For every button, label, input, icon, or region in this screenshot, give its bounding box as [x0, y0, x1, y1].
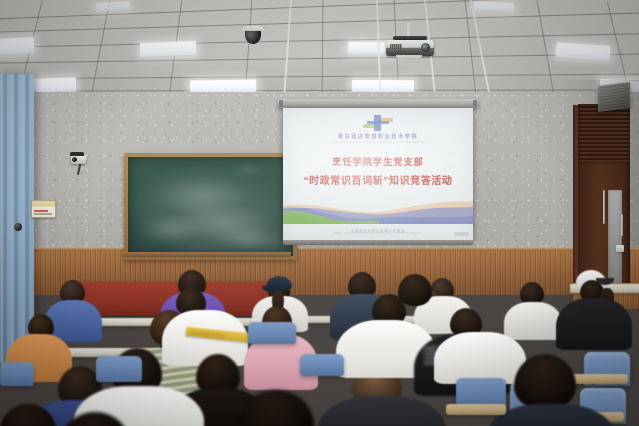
- lecture-hall-seat[interactable]: [96, 356, 142, 382]
- slide-org-name-en: Qingdao Vocational and Technical College…: [330, 141, 425, 144]
- lecture-hall-seat[interactable]: [0, 362, 34, 386]
- student-body: [434, 332, 526, 384]
- left-door-knob: [14, 223, 22, 231]
- student-body: [504, 302, 562, 340]
- chalkboard-surface: [128, 157, 293, 256]
- college-logo-icon: [363, 115, 393, 131]
- student-body: [556, 298, 632, 350]
- door-handle[interactable]: [621, 214, 623, 236]
- classroom-photo: 青岛酒店管理职业技术学院 Qingdao Vocational and Tech…: [0, 0, 639, 426]
- slide-footer-sub: CRADLE OF PROFESSIONAL MANAGERS FOR CHIN…: [283, 233, 473, 235]
- projection-screen: 青岛酒店管理职业技术学院 Qingdao Vocational and Tech…: [283, 108, 473, 240]
- seated-students: 青岛酒店管理职业技术学院 LOVE ME LOVE ME LOVE ME KIS…: [0, 262, 639, 426]
- wall-speaker: [598, 82, 630, 112]
- presentation-slide: 青岛酒店管理职业技术学院 Qingdao Vocational and Tech…: [283, 108, 473, 240]
- wall-outlet[interactable]: [616, 245, 624, 252]
- student-head: [514, 354, 576, 410]
- wall-notice-box: [31, 200, 56, 218]
- slide-title-line2: “时政常识百词斩”知识竞答活动: [304, 172, 453, 187]
- student-head: [398, 274, 432, 306]
- lecture-hall-seat[interactable]: [300, 354, 344, 376]
- lecture-hall-seat[interactable]: [248, 322, 296, 344]
- ceiling: [0, 0, 639, 96]
- door-transom-louver: [578, 104, 630, 164]
- slide-title-line1: 烹饪学院学生党支部: [332, 154, 424, 168]
- ceiling-light-panel: [0, 37, 34, 55]
- slide-org-name-cn: 青岛酒店管理职业技术学院: [338, 133, 418, 140]
- slide-footer: 中国酒店业职业经理人才摇篮 CRADLE OF PROFESSIONAL MAN…: [283, 228, 473, 236]
- screen-housing: [278, 99, 478, 108]
- slide-footer-cn: 中国酒店业职业经理人才摇篮: [351, 229, 405, 233]
- ceiling-tile-grid: [0, 0, 639, 96]
- ceiling-light-panel: [96, 1, 130, 12]
- ceiling-light-panel: [352, 80, 414, 93]
- ceiling-light-panel: [140, 41, 196, 57]
- chalk-tray: [122, 252, 291, 257]
- seat-tablet-arm: [446, 404, 506, 415]
- slide-corner-badge: [454, 232, 469, 236]
- slide-wave-graphic: [283, 200, 473, 224]
- screen-bottom-bar: [283, 240, 473, 245]
- door-handle[interactable]: [603, 190, 605, 224]
- ceiling-light-panel: [474, 1, 514, 13]
- student-body: [318, 396, 446, 426]
- dome-camera-icon: [242, 26, 264, 44]
- green-chalkboard: [124, 153, 297, 260]
